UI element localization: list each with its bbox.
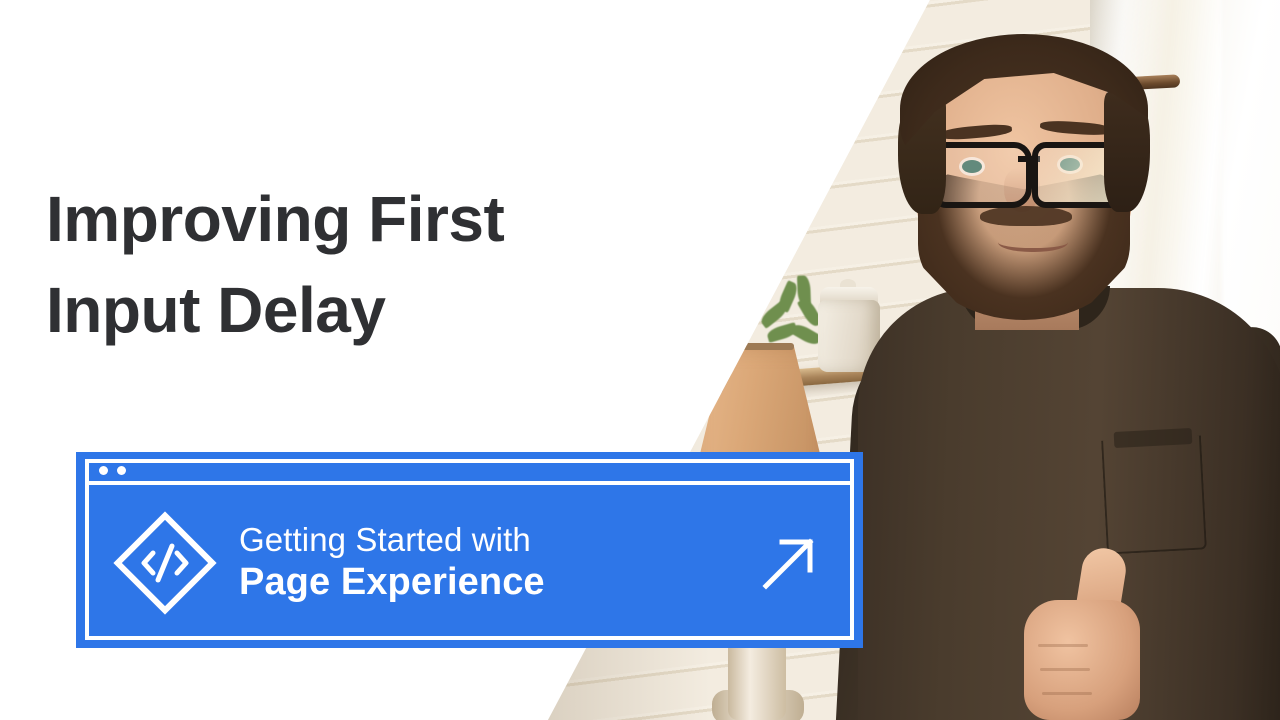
slide-canvas: Improving First Input Delay Getting Star… xyxy=(0,0,1280,720)
title-line-2: Input Delay xyxy=(46,265,686,356)
fist xyxy=(1024,600,1140,720)
window-dot-2 xyxy=(117,466,126,475)
shirt-pocket xyxy=(1101,435,1207,554)
code-diamond-icon xyxy=(113,511,217,615)
thumbs-up-hand xyxy=(1022,548,1146,720)
page-experience-banner[interactable]: Getting Started with Page Experience xyxy=(76,452,863,648)
banner-headline: Getting Started with Page Experience xyxy=(239,521,760,605)
banner-headline-large: Page Experience xyxy=(239,560,760,605)
banner-body: Getting Started with Page Experience xyxy=(85,485,854,640)
mouth xyxy=(998,232,1068,252)
arrow-up-right-icon[interactable] xyxy=(760,534,818,592)
banner-headline-small: Getting Started with xyxy=(239,521,760,560)
window-dot-1 xyxy=(99,466,108,475)
title-line-1: Improving First xyxy=(46,174,686,265)
mustache xyxy=(980,206,1072,226)
page-title: Improving First Input Delay xyxy=(46,174,686,356)
lens-left xyxy=(932,142,1032,208)
banner-title-bar xyxy=(85,459,854,485)
